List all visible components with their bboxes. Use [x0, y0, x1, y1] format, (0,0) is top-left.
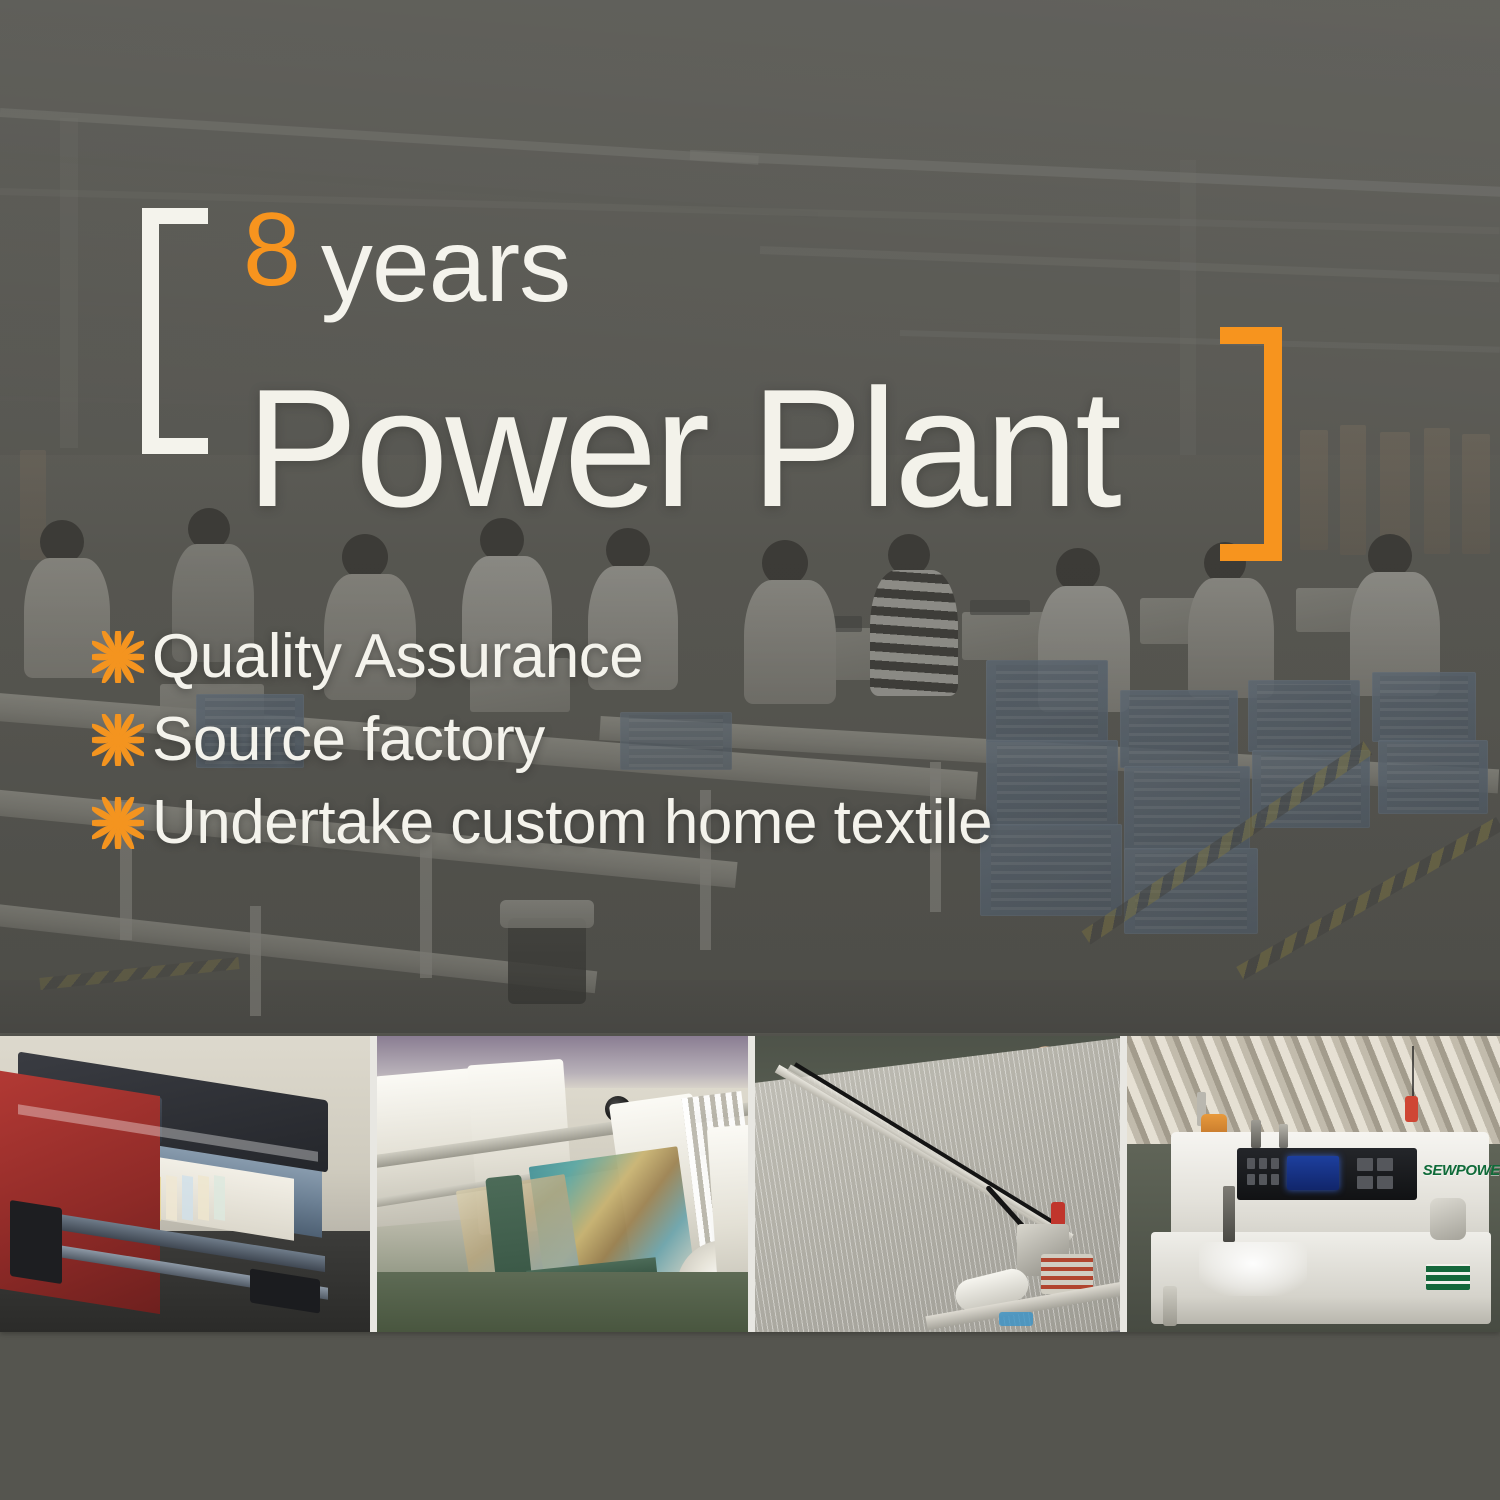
feature-label: Quality Assurance [152, 626, 643, 688]
thumbnail-sewing-machine[interactable]: SEWPOWER [1127, 1036, 1500, 1332]
years-number: 8 [243, 206, 299, 295]
machine-brand-logo: SEWPOWER [1423, 1162, 1500, 1179]
thumbnail-strip: SEWPOWER [0, 1036, 1500, 1332]
list-item: Undertake custom home textile [92, 792, 992, 854]
close-bracket-icon [1220, 327, 1282, 561]
list-item: Quality Assurance [92, 626, 992, 688]
hero-factory-photo: 8 years Power Plant [0, 0, 1500, 1033]
thumbnail-fabric-rolls[interactable] [377, 1036, 747, 1332]
thumbnail-cutting-table[interactable] [755, 1036, 1120, 1332]
thumbnail-wide-format-printer[interactable] [0, 1036, 370, 1332]
years-label: years [321, 222, 570, 311]
promo-banner: 8 years Power Plant [0, 0, 1500, 1500]
list-item: Source factory [92, 709, 992, 771]
starburst-icon [92, 631, 144, 683]
banner-text-overlay: 8 years Power Plant [0, 0, 1500, 1033]
feature-list: Quality Assurance [92, 626, 992, 875]
starburst-icon [92, 797, 144, 849]
page-title: Power Plant [246, 364, 1119, 532]
starburst-icon [92, 714, 144, 766]
years-headline: 8 years [243, 206, 570, 311]
feature-label: Undertake custom home textile [152, 792, 992, 854]
feature-label: Source factory [152, 709, 545, 771]
open-bracket-icon [142, 208, 208, 454]
